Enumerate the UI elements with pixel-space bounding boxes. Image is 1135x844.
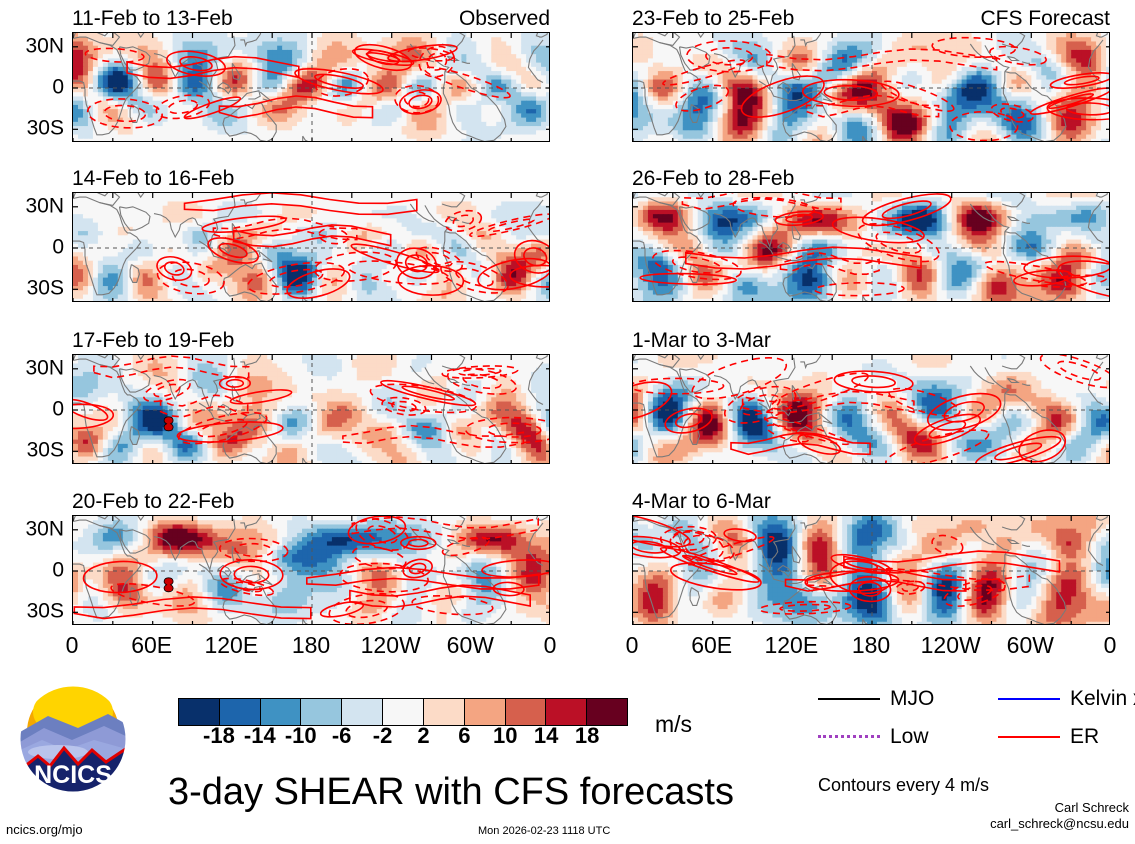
colorbar-segment-5: [383, 699, 424, 725]
contour-interval-note: Contours every 4 m/s: [818, 775, 989, 795]
legend-label-er: ER: [1070, 726, 1099, 747]
map-canvas-p7: [632, 354, 1110, 464]
x-axis-label-60W-5: 60W: [447, 632, 494, 658]
legend-label-kelvin: Kelvin x2: [1070, 688, 1135, 709]
map-canvas-p3: [72, 354, 550, 464]
x-axis-label-0-0: 0: [66, 632, 79, 658]
y-axis-label-0: 0: [52, 237, 64, 258]
legend-swatch-kelvin: [998, 698, 1060, 700]
column-header-left: Observed: [459, 8, 550, 29]
panel-title-p3: 17-Feb to 19-Feb: [72, 330, 234, 351]
logo-text: NCICS: [34, 761, 112, 789]
x-axis-label-180-3: 180: [292, 632, 330, 658]
legend-label-low: Low: [890, 726, 929, 747]
map-panel-p1: 11-Feb to 13-FebObserved30N030S: [72, 10, 550, 142]
legend-swatch-mjo: [818, 698, 880, 700]
colorbar-swatches: [178, 698, 628, 726]
y-axis-label-30N: 30N: [25, 518, 64, 539]
colorbar-segment-6: [424, 699, 465, 725]
colorbar-segment-8: [506, 699, 547, 725]
colorbar-tick--14: -14: [244, 724, 276, 748]
x-axis-label-60E-1: 60E: [131, 632, 172, 658]
colorbar-tick-labels: -18-14-10-6-226101418: [178, 724, 628, 750]
site-url[interactable]: ncics.org/mjo: [6, 822, 83, 837]
map-panel-p2: 14-Feb to 16-Feb30N030S: [72, 170, 550, 302]
x-axis-label-0-6: 0: [544, 632, 557, 658]
map-panel-p6: 26-Feb to 28-Feb: [632, 170, 1110, 302]
y-axis-label-30N: 30N: [25, 35, 64, 56]
colorbar-segment-3: [301, 699, 342, 725]
panel-title-p4: 20-Feb to 22-Feb: [72, 491, 234, 512]
map-panel-p8: 4-Mar to 6-Mar: [632, 493, 1110, 625]
y-axis-label-0: 0: [52, 560, 64, 581]
colorbar-units-label: m/s: [655, 712, 692, 736]
y-axis-label-30S: 30S: [27, 278, 64, 299]
map-panel-p7: 1-Mar to 3-Mar: [632, 332, 1110, 464]
y-axis-label-0: 0: [52, 77, 64, 98]
x-axis-label-120E-2: 120E: [204, 632, 258, 658]
column-header-right: CFS Forecast: [980, 8, 1110, 29]
x-axis-label-120W-4: 120W: [921, 632, 981, 658]
x-axis-label-0-0: 0: [626, 632, 639, 658]
colorbar-segment-9: [546, 699, 587, 725]
colorbar-tick--10: -10: [285, 724, 317, 748]
legend-item-kelvin: Kelvin x2: [998, 688, 1135, 709]
map-canvas-p6: [632, 192, 1110, 302]
map-panel-p4: 20-Feb to 22-Feb30N030S: [72, 493, 550, 625]
y-axis-label-30S: 30S: [27, 118, 64, 139]
colorbar-segment-2: [261, 699, 302, 725]
y-axis-label-30N: 30N: [25, 195, 64, 216]
x-axis-label-60E-1: 60E: [691, 632, 732, 658]
colorbar-tick-2: 2: [417, 724, 429, 748]
legend-item-er: ER: [998, 726, 1099, 747]
map-canvas-p5: [632, 32, 1110, 142]
map-canvas-p8: [632, 515, 1110, 625]
author-email[interactable]: carl_schreck@ncsu.edu: [990, 816, 1129, 832]
figure-title: 3-day SHEAR with CFS forecasts: [168, 772, 734, 812]
panel-title-p7: 1-Mar to 3-Mar: [632, 330, 771, 351]
x-axis-label-60W-5: 60W: [1007, 632, 1054, 658]
legend-item-mjo: MJO: [818, 688, 934, 709]
panel-grid: 11-Feb to 13-FebObserved30N030S14-Feb to…: [0, 0, 1135, 620]
colorbar-tick-14: 14: [534, 724, 558, 748]
x-axis-label-0-6: 0: [1104, 632, 1117, 658]
legend-swatch-low: [818, 735, 880, 738]
legend-item-low: Low: [818, 726, 929, 747]
map-panel-p3: 17-Feb to 19-Feb30N030S: [72, 332, 550, 464]
map-canvas-p4: [72, 515, 550, 625]
legend-label-mjo: MJO: [890, 688, 934, 709]
ncics-logo: NCICS: [8, 684, 138, 802]
panel-title-p5: 23-Feb to 25-Feb: [632, 8, 794, 29]
author-credit: Carl Schreck carl_schreck@ncsu.edu: [990, 800, 1129, 832]
y-axis-label-30S: 30S: [27, 601, 64, 622]
colorbar-segment-7: [465, 699, 506, 725]
colorbar-tick-10: 10: [493, 724, 517, 748]
panel-title-p8: 4-Mar to 6-Mar: [632, 491, 771, 512]
colorbar-tick--2: -2: [373, 724, 393, 748]
author-name: Carl Schreck: [990, 800, 1129, 816]
x-axis-label-120E-2: 120E: [764, 632, 818, 658]
map-canvas-p2: [72, 192, 550, 302]
colorbar-tick--18: -18: [203, 724, 235, 748]
colorbar-segment-1: [220, 699, 261, 725]
map-canvas-p1: [72, 32, 550, 142]
colorbar-segment-10: [587, 699, 627, 725]
x-axis-label-180-3: 180: [852, 632, 890, 658]
y-axis-label-0: 0: [52, 399, 64, 420]
panel-title-p1: 11-Feb to 13-Feb: [72, 8, 233, 29]
colorbar-tick-6: 6: [458, 724, 470, 748]
panel-title-p6: 26-Feb to 28-Feb: [632, 168, 794, 189]
colorbar: -18-14-10-6-226101418: [178, 698, 628, 754]
generated-timestamp: Mon 2026-02-23 1118 UTC: [478, 824, 610, 839]
y-axis-label-30N: 30N: [25, 357, 64, 378]
panel-title-p2: 14-Feb to 16-Feb: [72, 168, 234, 189]
x-axis-right: 060E120E180120W60W0: [632, 632, 1110, 662]
map-panel-p5: 23-Feb to 25-FebCFS Forecast: [632, 10, 1110, 142]
legend-swatch-er: [998, 736, 1060, 738]
wave-legend: MJO Kelvin x2 Low ER: [818, 688, 1128, 758]
colorbar-tick-18: 18: [575, 724, 599, 748]
y-axis-label-30S: 30S: [27, 440, 64, 461]
colorbar-tick--6: -6: [332, 724, 352, 748]
x-axis-label-120W-4: 120W: [361, 632, 421, 658]
colorbar-segment-0: [179, 699, 220, 725]
colorbar-segment-4: [342, 699, 383, 725]
x-axis-left: 060E120E180120W60W0: [72, 632, 550, 662]
